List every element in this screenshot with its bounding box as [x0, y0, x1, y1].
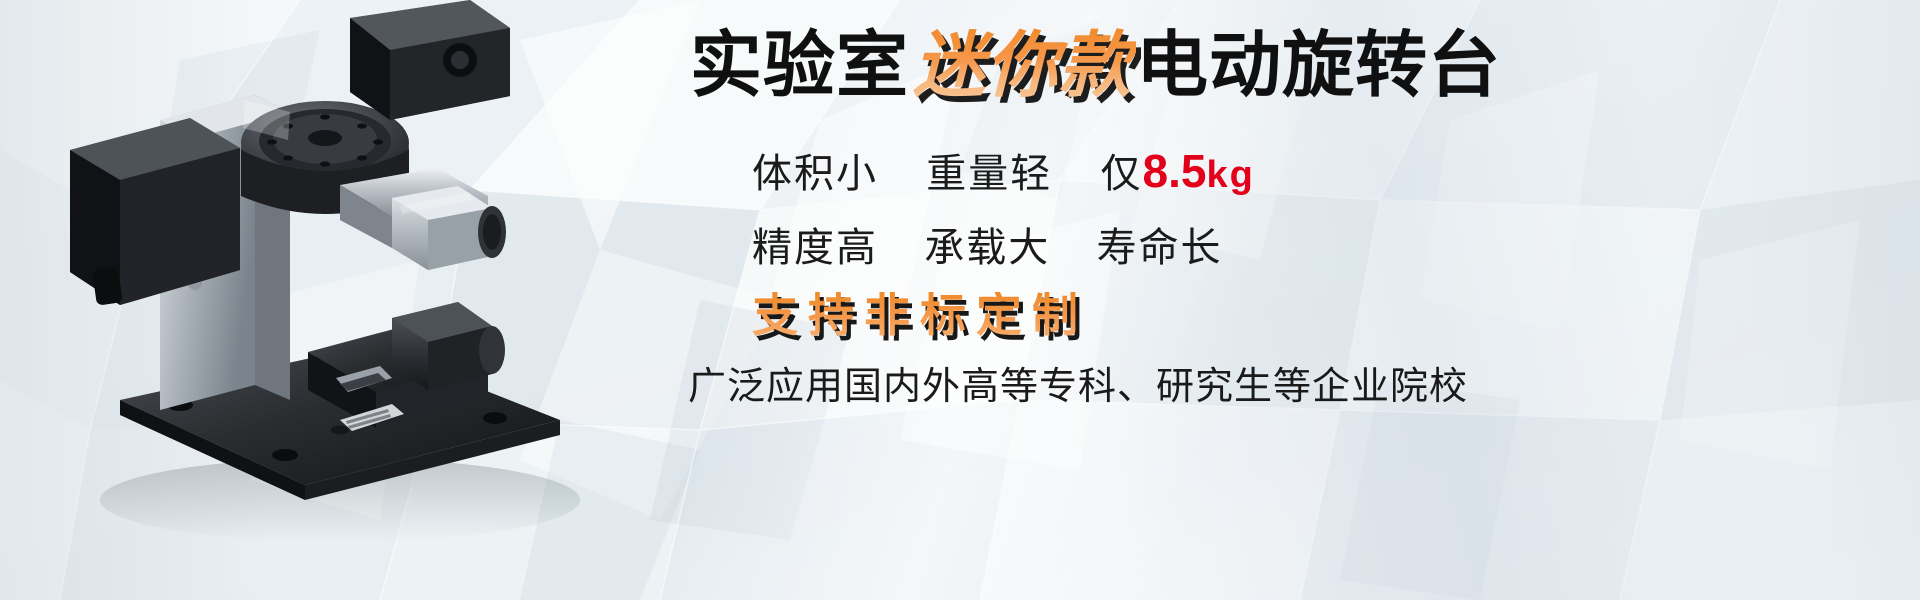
headline-suffix: 电动旋转台	[1136, 26, 1501, 106]
spec-line-performance: 精度高 承载大 寿命长	[752, 228, 1223, 268]
headline-prefix: 实验室	[690, 26, 909, 106]
product-banner: 实验室迷你款电动旋转台 体积小 重量轻 仅8.5kg 精度高 承载大 寿命长 支…	[0, 0, 1920, 600]
custom-order-tagline: 支持非标定制	[752, 292, 1088, 338]
spec-feature-compact: 体积小	[752, 152, 878, 196]
spec-feature-load: 承载大	[924, 226, 1050, 270]
product-linear-stage-right	[340, 168, 506, 270]
spec-feature-lifespan: 寿命长	[1097, 226, 1223, 270]
spec-line-weight: 体积小 重量轻 仅8.5kg	[752, 148, 1255, 194]
spec-feature-lightweight: 重量轻	[926, 152, 1052, 196]
product-image	[40, 0, 660, 600]
application-scope-text: 广泛应用国内外高等专科、研究生等企业院校	[688, 368, 1468, 406]
spec-feature-precision: 精度高	[752, 226, 878, 270]
banner-headline: 实验室迷你款电动旋转台	[690, 30, 1501, 102]
product-motor-housing-top	[350, 0, 510, 120]
weight-unit: kg	[1206, 154, 1254, 196]
headline-accent: 迷你款	[909, 26, 1136, 106]
weight-value: 8.5	[1143, 145, 1207, 197]
weight-prefix: 仅	[1101, 152, 1143, 196]
banner-copy: 实验室迷你款电动旋转台 体积小 重量轻 仅8.5kg 精度高 承载大 寿命长 支…	[680, 0, 1900, 600]
